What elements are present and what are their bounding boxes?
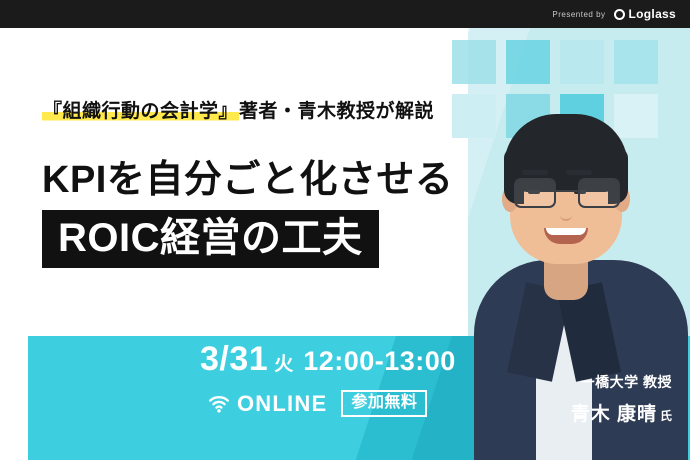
event-format-row: ONLINE 参加無料	[208, 390, 427, 417]
circle-logo-icon	[614, 9, 625, 20]
speaker-info: 一橋大学 教授 青木 康晴氏	[571, 372, 672, 426]
speaker-affiliation: 一橋大学 教授	[571, 372, 672, 392]
portrait-lens-left	[514, 178, 556, 208]
portrait-eyebrow-right	[566, 170, 592, 175]
portrait-eyebrow-left	[522, 170, 548, 175]
speaker-name-suffix: 氏	[660, 409, 672, 423]
event-date-row: 3/31 火 12:00-13:00	[200, 340, 456, 379]
top-bar: Presented by Loglass	[0, 0, 690, 28]
event-date: 3/31	[200, 340, 268, 379]
portrait-lens-right	[578, 178, 620, 208]
glasses-icon	[512, 178, 622, 208]
webinar-banner: Presented by Loglass 『組織行動の会計学』著者・青木教授が解…	[0, 0, 690, 460]
title-line-2: ROIC経営の工夫	[58, 217, 363, 259]
event-time: 12:00-13:00	[303, 346, 456, 377]
speaker-name-row: 青木 康晴氏	[571, 399, 672, 426]
title-line-1: KPIを自分ごと化させる	[42, 148, 453, 203]
portrait-glasses-bridge	[556, 190, 578, 192]
event-format-label: ONLINE	[237, 391, 327, 417]
price-badge: 参加無料	[341, 390, 427, 417]
background-white-left-strip	[0, 28, 28, 460]
event-day-of-week: 火	[274, 349, 293, 376]
speaker-name: 青木 康晴	[571, 404, 657, 425]
eyebrow-rest: 著者・青木教授が解説	[239, 101, 434, 122]
wifi-icon	[208, 395, 230, 413]
presented-by-label: Presented by	[552, 10, 605, 19]
eyebrow-text: 『組織行動の会計学』著者・青木教授が解説	[42, 96, 434, 123]
brand-name: Loglass	[629, 7, 676, 21]
eyebrow-book-title: 『組織行動の会計学』	[42, 101, 239, 122]
title-line-2-box: ROIC経営の工夫	[42, 210, 379, 268]
brand-logo: Loglass	[614, 7, 676, 21]
portrait-teeth	[546, 228, 586, 235]
